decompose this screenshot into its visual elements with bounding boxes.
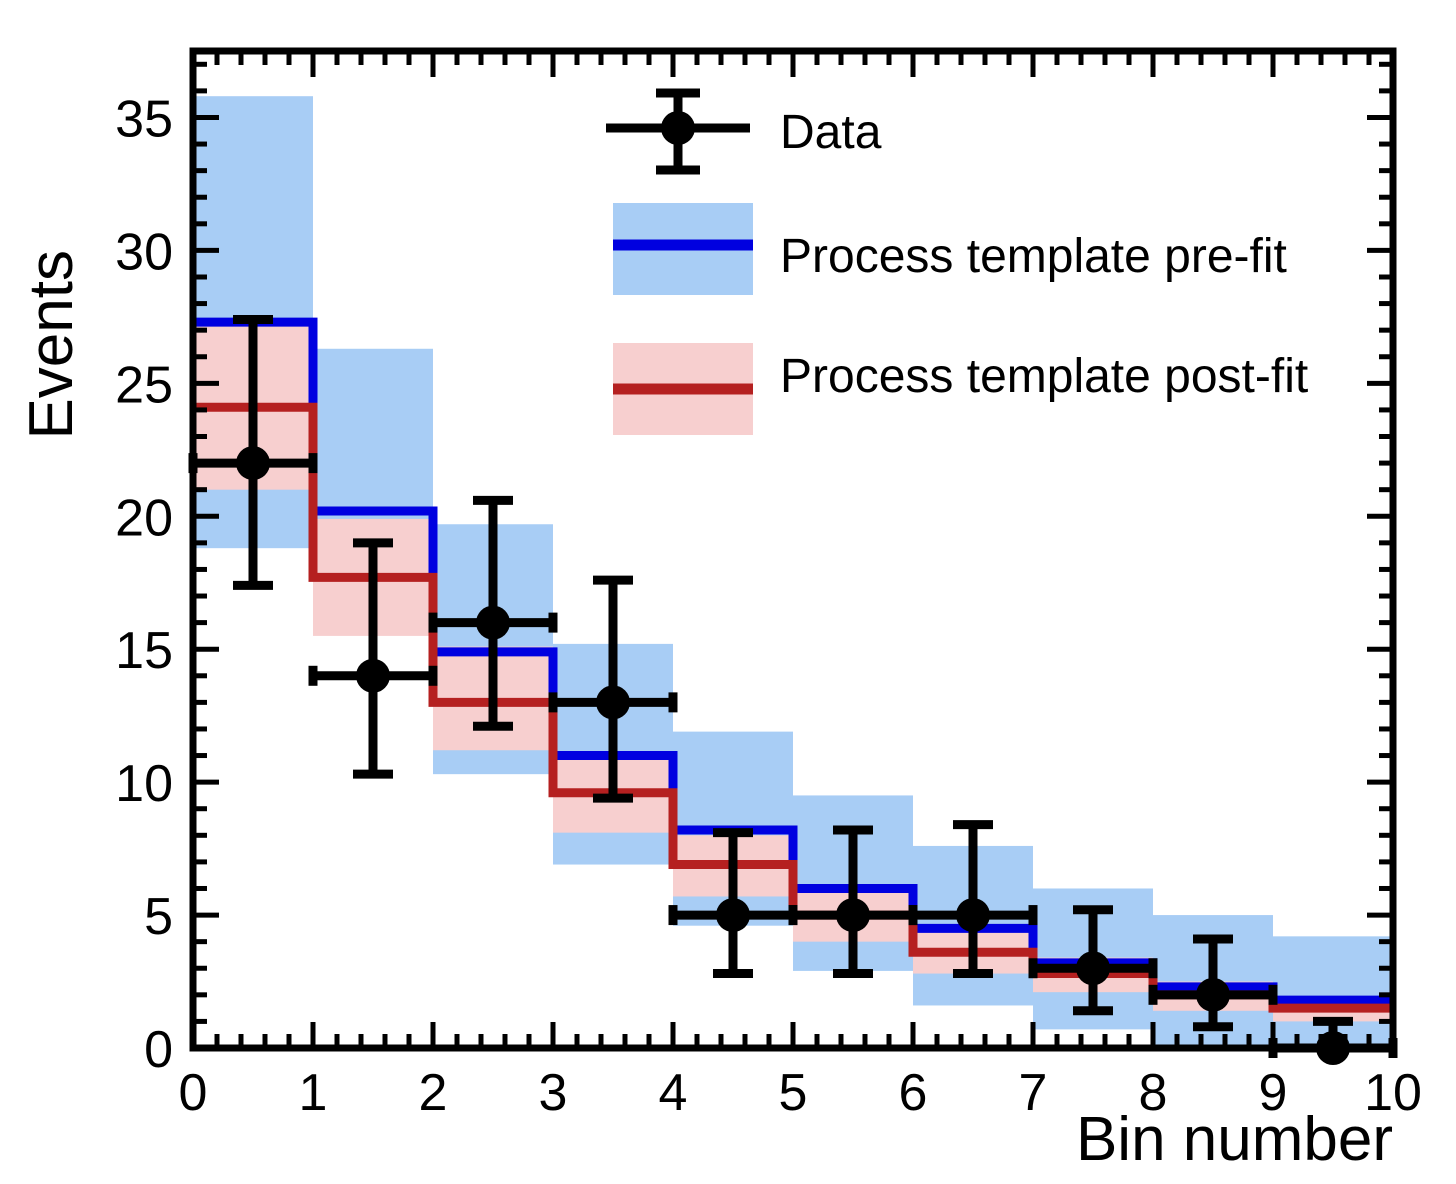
legend-marker-postfit-band	[613, 343, 753, 435]
x-tick-label-2: 2	[419, 1064, 448, 1122]
y-tick-label-25: 25	[115, 356, 173, 414]
y-tick-label-30: 30	[115, 223, 173, 281]
x-axis-title: Bin number	[1076, 1105, 1393, 1174]
x-tick-label-4: 4	[659, 1064, 688, 1122]
x-tick-label-3: 3	[539, 1064, 568, 1122]
y-tick-label-35: 35	[115, 90, 173, 148]
y-tick-label-20: 20	[115, 489, 173, 547]
legend-label-data: Data	[780, 106, 882, 159]
legend-marker-prefit-band	[613, 203, 753, 295]
y-tick-label-10: 10	[115, 755, 173, 813]
x-tick-label-0: 0	[179, 1064, 208, 1122]
x-tick-label-1: 1	[299, 1064, 328, 1122]
legend-label-prefit: Process template pre-fit	[780, 230, 1287, 283]
legend-label-postfit: Process template post-fit	[780, 350, 1308, 403]
legend-data-point	[661, 111, 695, 145]
y-tick-label-0: 0	[144, 1021, 173, 1079]
x-tick-label-5: 5	[779, 1064, 808, 1122]
y-tick-label-15: 15	[115, 622, 173, 680]
y-axis-title: Events	[17, 250, 86, 440]
y-tick-label-5: 5	[144, 888, 173, 946]
chart-canvas: 012345678910 05101520253035 Events Bin n…	[0, 0, 1456, 1184]
x-tick-label-6: 6	[899, 1064, 928, 1122]
events-vs-bin-number-histogram: 012345678910 05101520253035 Events Bin n…	[0, 0, 1456, 1184]
x-tick-label-7: 7	[1019, 1064, 1048, 1122]
